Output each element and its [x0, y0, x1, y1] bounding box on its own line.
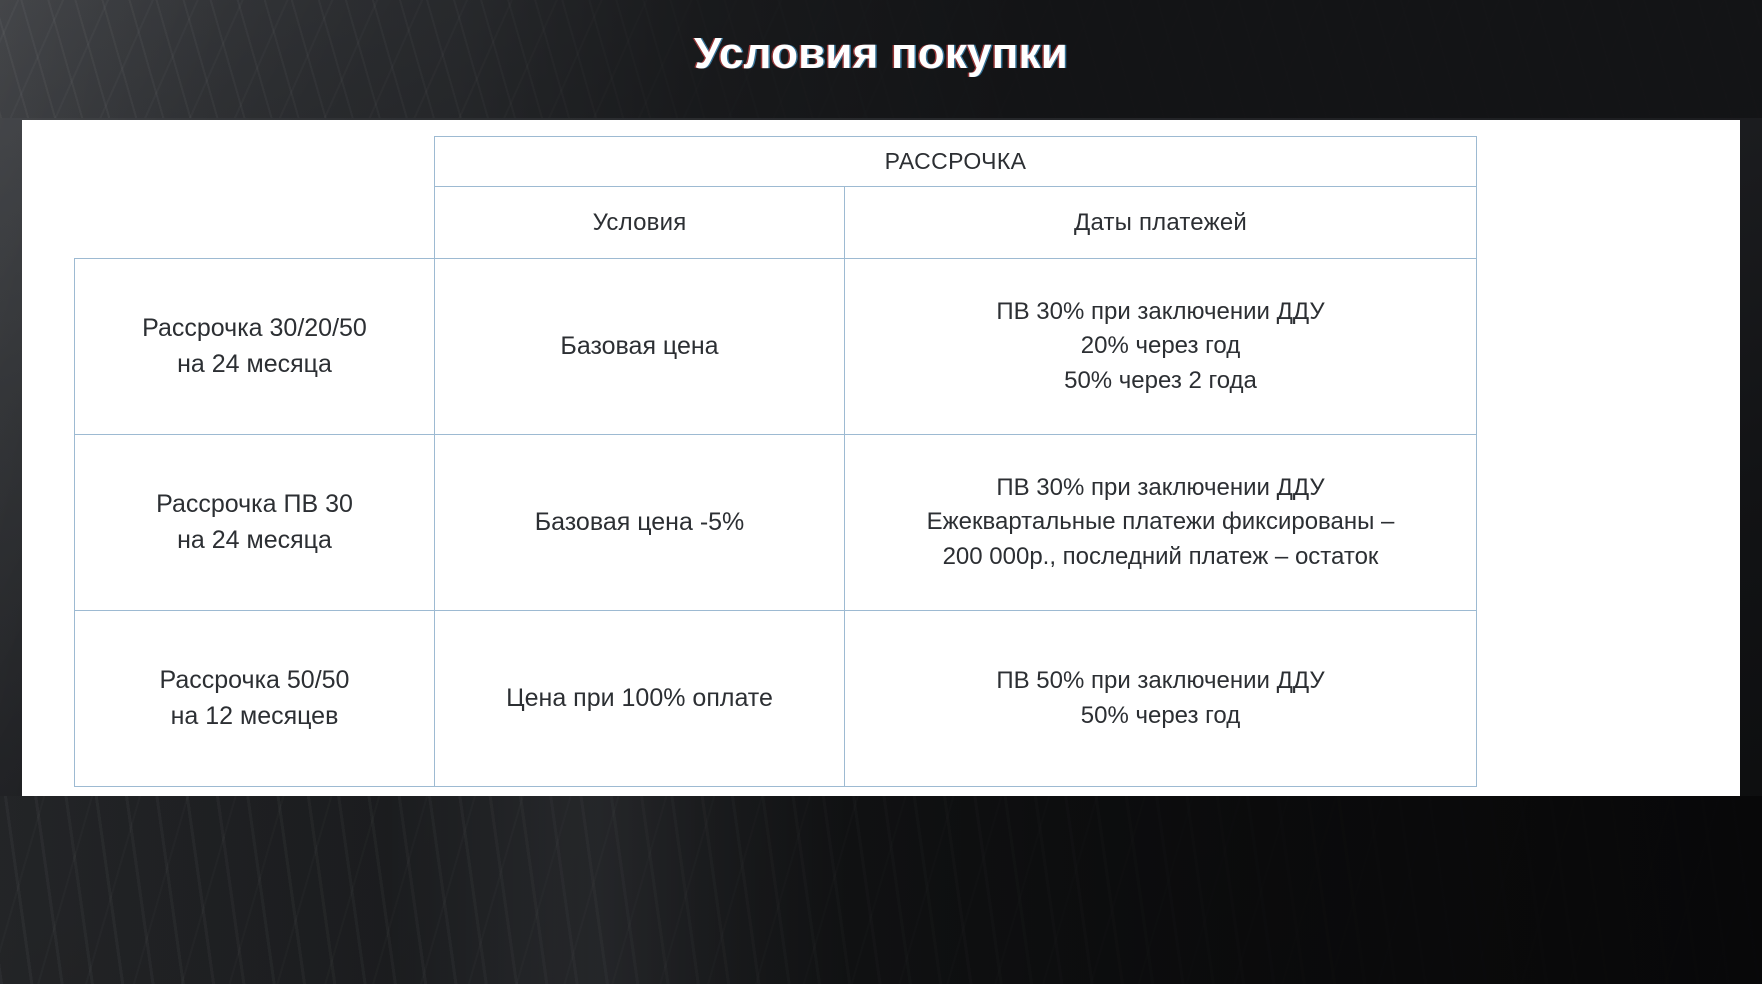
terms-2-line-1: Базовая цена -5% — [449, 505, 830, 541]
table-group-header-rassrochka: РАССРОЧКА — [435, 137, 1477, 187]
terms-1-line-1: Базовая цена — [449, 329, 830, 365]
plan-3-line-2: на 12 месяцев — [89, 699, 420, 735]
cell-plan-1: Рассрочка 30/20/50 на 24 месяца — [75, 259, 435, 435]
cell-dates-3: ПВ 50% при заключении ДДУ 50% через год — [845, 611, 1477, 787]
plan-1-line-2: на 24 месяца — [89, 347, 420, 383]
cell-terms-1: Базовая цена — [435, 259, 845, 435]
table-corner-cell-lower — [75, 187, 435, 259]
content-card: РАССРОЧКА Условия Даты платежей Рассрочк… — [22, 120, 1740, 796]
cell-dates-2: ПВ 30% при заключении ДДУ Ежеквартальные… — [845, 435, 1477, 611]
cell-dates-1: ПВ 30% при заключении ДДУ 20% через год … — [845, 259, 1477, 435]
table-row: Рассрочка ПВ 30 на 24 месяца Базовая цен… — [75, 435, 1477, 611]
cell-terms-2: Базовая цена -5% — [435, 435, 845, 611]
purchase-conditions-table: РАССРОЧКА Условия Даты платежей Рассрочк… — [74, 136, 1477, 787]
plan-2-line-1: Рассрочка ПВ 30 — [89, 487, 420, 523]
dates-1-line-3: 50% через 2 года — [859, 364, 1462, 398]
cell-terms-3: Цена при 100% оплате — [435, 611, 845, 787]
cell-plan-2: Рассрочка ПВ 30 на 24 месяца — [75, 435, 435, 611]
dates-2-line-1: ПВ 30% при заключении ДДУ — [859, 471, 1462, 505]
plan-1-line-1: Рассрочка 30/20/50 — [89, 311, 420, 347]
dates-3-line-2: 50% через год — [859, 699, 1462, 733]
slide-title-bar: Условия покупки — [0, 0, 1762, 108]
table-row: Рассрочка 30/20/50 на 24 месяца Базовая … — [75, 259, 1477, 435]
terms-3-line-1: Цена при 100% оплате — [449, 681, 830, 717]
table-header-row-group: РАССРОЧКА — [75, 137, 1477, 187]
page-title: Условия покупки — [694, 29, 1068, 79]
background-texture-bottom-overlay — [0, 796, 1762, 984]
cell-plan-3: Рассрочка 50/50 на 12 месяцев — [75, 611, 435, 787]
dates-1-line-2: 20% через год — [859, 329, 1462, 363]
plan-3-line-1: Рассрочка 50/50 — [89, 663, 420, 699]
dates-3-line-1: ПВ 50% при заключении ДДУ — [859, 664, 1462, 698]
dates-2-line-2: Ежеквартальные платежи фиксированы – — [859, 505, 1462, 539]
column-header-terms: Условия — [435, 187, 845, 259]
column-header-payment-dates: Даты платежей — [845, 187, 1477, 259]
table-header-row-sub: Условия Даты платежей — [75, 187, 1477, 259]
table-row: Рассрочка 50/50 на 12 месяцев Цена при 1… — [75, 611, 1477, 787]
dates-2-line-3: 200 000р., последний платеж – остаток — [859, 540, 1462, 574]
plan-2-line-2: на 24 месяца — [89, 523, 420, 559]
table-corner-cell — [75, 137, 435, 187]
dates-1-line-1: ПВ 30% при заключении ДДУ — [859, 295, 1462, 329]
